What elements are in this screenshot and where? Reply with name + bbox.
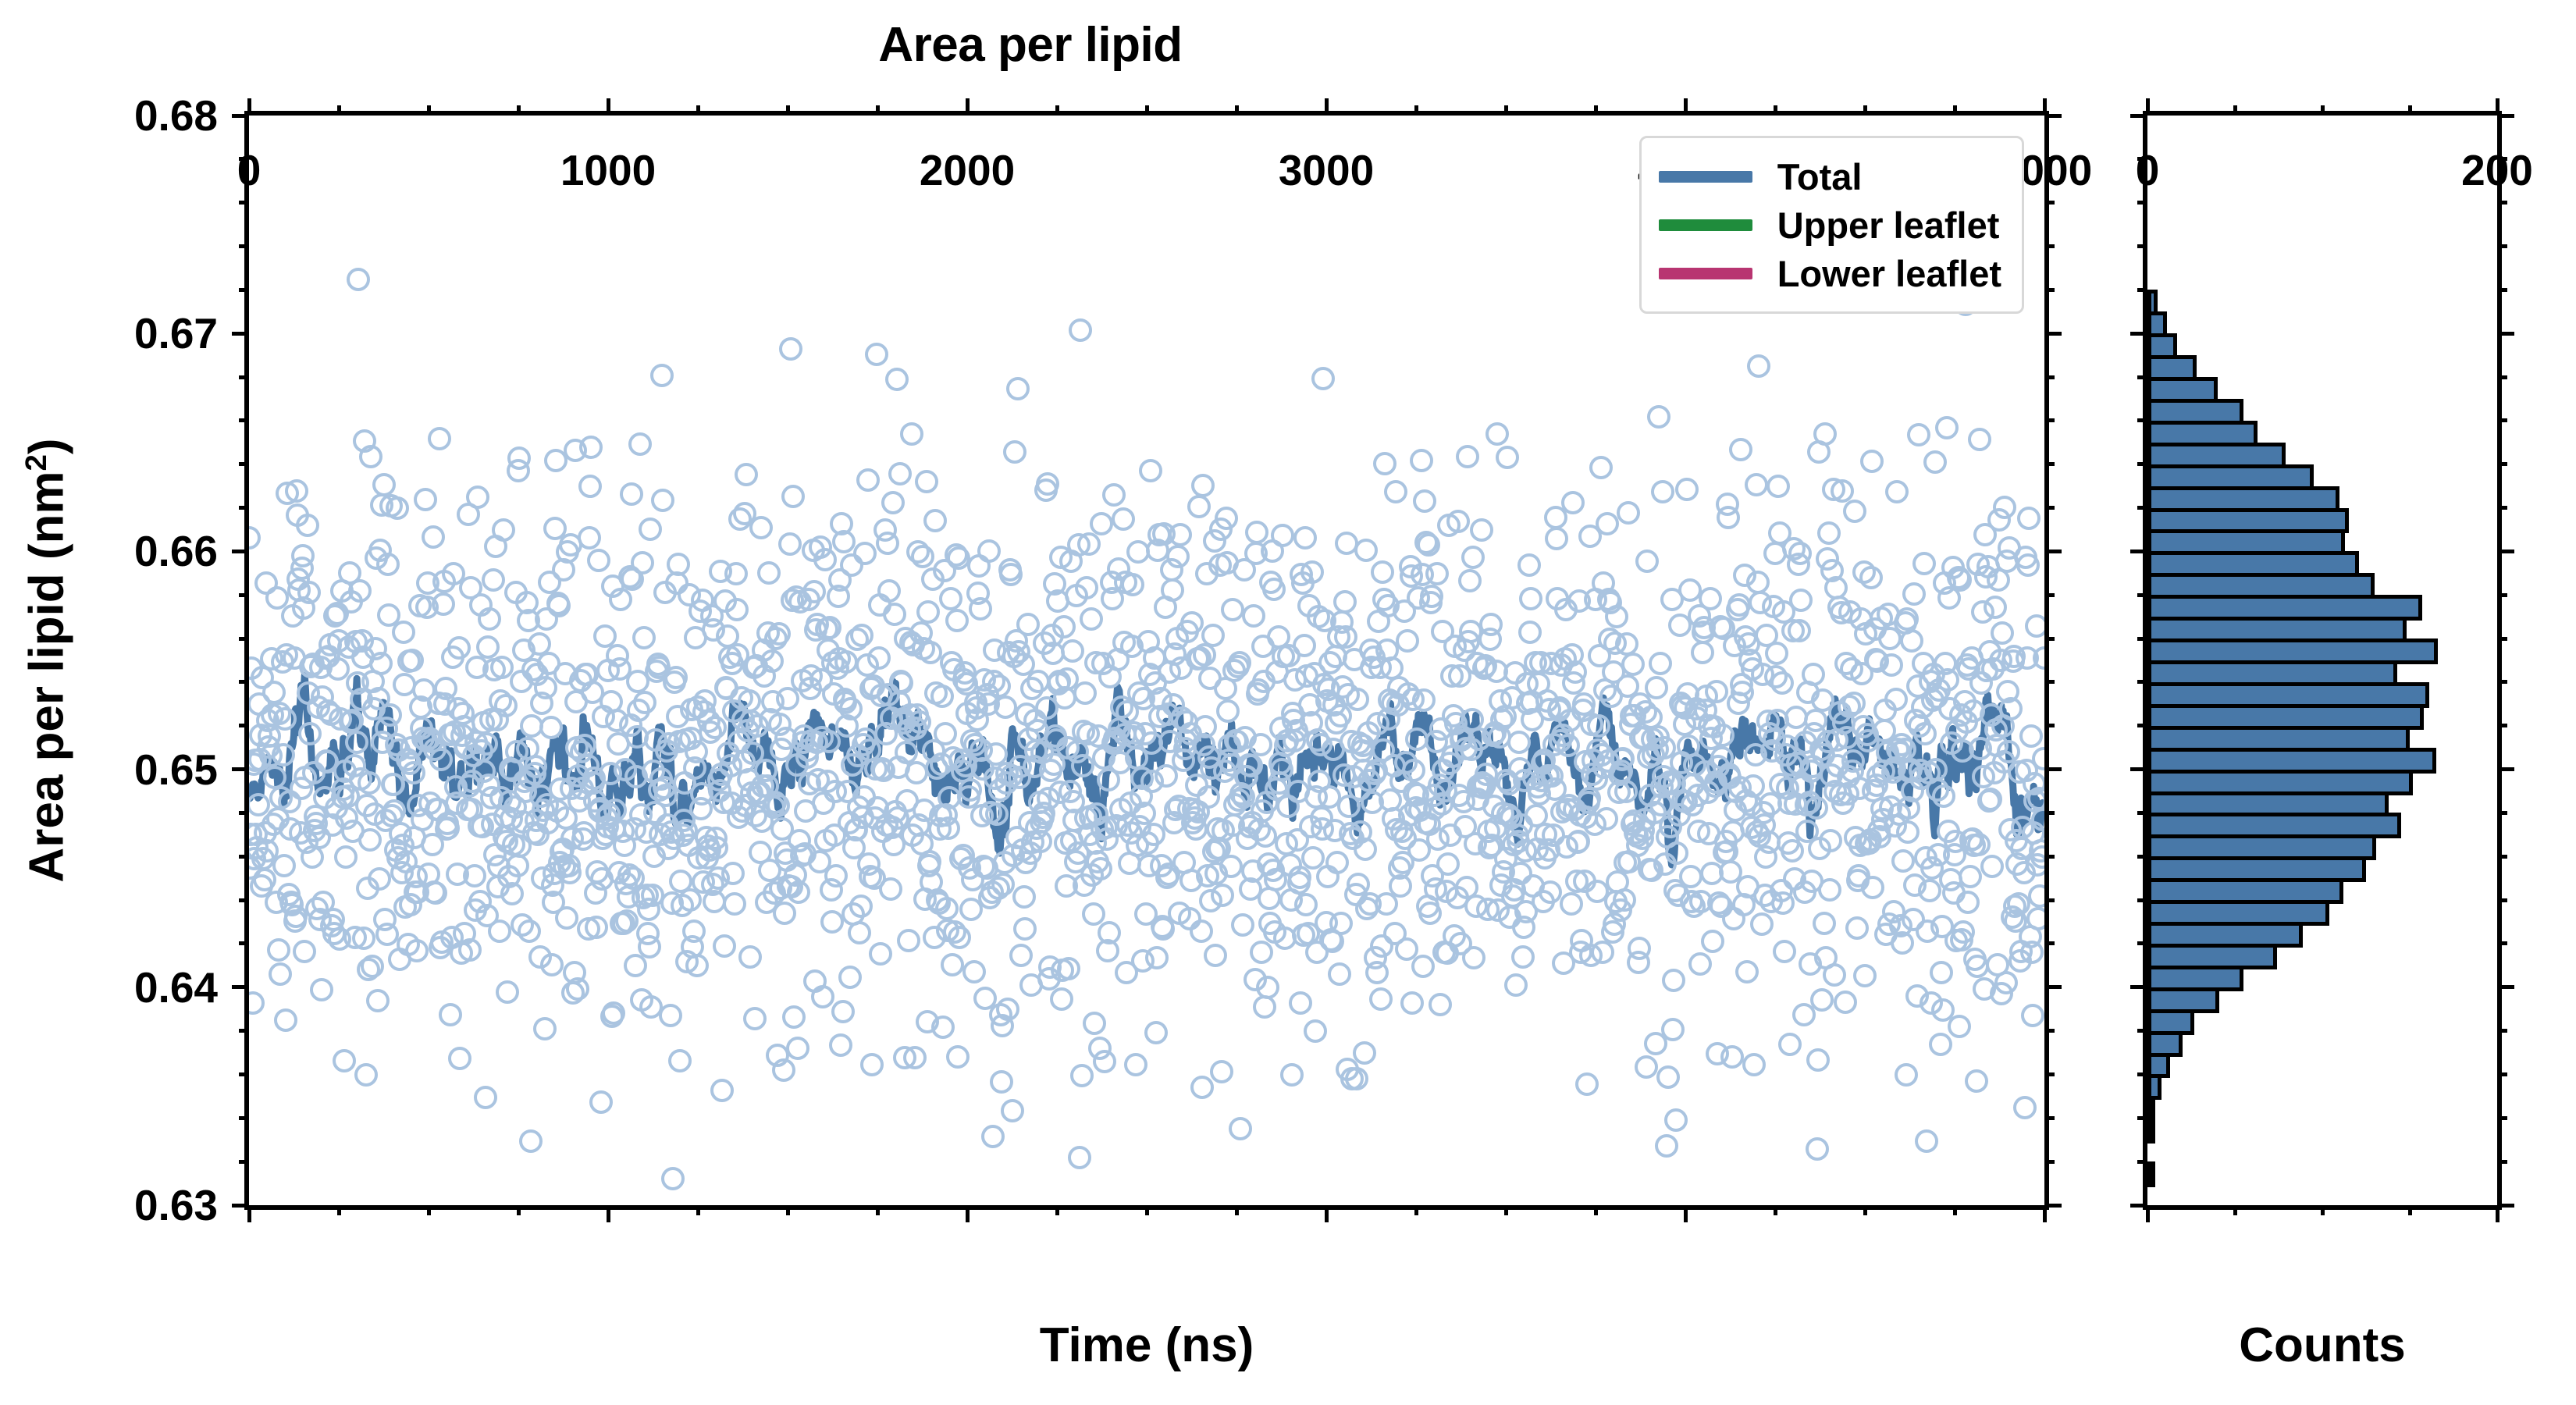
scatter-point [386, 496, 409, 520]
x-major-tick [1325, 98, 1329, 116]
scatter-point [1999, 697, 2023, 720]
scatter-point [818, 616, 841, 639]
scatter-point [1098, 921, 1121, 944]
scatter-point [969, 597, 992, 621]
x-minor-tick [1504, 1205, 1508, 1215]
scatter-point [293, 940, 316, 963]
histogram-y-major-tick [2130, 767, 2147, 771]
scatter-point [1781, 839, 1804, 863]
scatter-point [994, 695, 1017, 719]
y-major-tick [232, 332, 249, 336]
scatter-point [1729, 438, 1752, 461]
scatter-point [1373, 452, 1397, 475]
histogram-y-minor-tick [2137, 506, 2147, 510]
scatter-point [1325, 851, 1349, 874]
histogram-y-major-tick [2130, 332, 2147, 336]
scatter-point [1507, 731, 1531, 754]
scatter-point [1991, 621, 2014, 645]
scatter-point [533, 1017, 557, 1040]
scatter-point [1891, 849, 1915, 873]
histogram-y-minor-tick [2137, 898, 2147, 902]
scatter-point [1073, 681, 1097, 705]
scatter-point [1201, 624, 1225, 647]
scatter-point [867, 646, 891, 670]
scatter-point [1935, 416, 1959, 439]
scatter-point [424, 881, 447, 905]
scatter-point [466, 486, 489, 509]
scatter-point [749, 516, 773, 539]
scatter-point [428, 427, 451, 450]
scatter-point [1819, 829, 1842, 852]
x-minor-tick [427, 105, 431, 116]
scatter-point [1334, 625, 1357, 649]
scatter-point [1613, 888, 1636, 912]
scatter-point [773, 902, 796, 925]
scatter-point [1561, 491, 1585, 514]
y-minor-tick-right [2044, 898, 2055, 902]
histogram-y-minor-tick [2137, 724, 2147, 727]
histogram-bars-layer [2147, 116, 2497, 1205]
scatter-point [1959, 865, 1982, 888]
scatter-point [832, 530, 856, 553]
scatter-point [1458, 569, 1482, 592]
scatter-point [1691, 641, 1714, 664]
scatter-point [1420, 585, 1443, 608]
scatter-point [1003, 440, 1026, 464]
scatter-point [1965, 1069, 1988, 1093]
scatter-point [1009, 944, 1033, 967]
y-minor-tick [239, 941, 249, 945]
scatter-point [633, 691, 656, 714]
y-minor-tick-right [2044, 1029, 2055, 1033]
y-minor-tick-right [2044, 855, 2055, 859]
scatter-point [1517, 553, 1541, 577]
scatter-point [1930, 961, 1953, 984]
scatter-point [1788, 542, 1812, 565]
scatter-point [1082, 902, 1105, 926]
scatter-point [358, 771, 381, 795]
scatter-point [1485, 422, 1509, 446]
histogram-y-minor-tick [2137, 680, 2147, 684]
y-major-tick-right [2044, 550, 2062, 553]
histogram-y-minor-tick [2497, 680, 2507, 684]
scatter-point [860, 1053, 884, 1076]
scatter-point [1328, 962, 1351, 986]
scatter-point [496, 980, 519, 1004]
legend-label: Lower leaflet [1777, 252, 2001, 295]
scatter-point [1187, 495, 1211, 518]
scatter-point [602, 1001, 625, 1025]
scatter-point [650, 364, 674, 387]
scatter-point [1859, 566, 1883, 589]
y-minor-tick-right [2044, 201, 2055, 205]
scatter-point [1545, 527, 1568, 550]
scatter-point [1417, 533, 1440, 557]
scatter-point [1789, 589, 1813, 612]
scatter-point [405, 939, 429, 962]
scatter-point [1090, 512, 1113, 535]
scatter-point [1614, 780, 1638, 803]
histogram-y-minor-tick [2497, 1029, 2507, 1033]
scatter-point [723, 892, 746, 916]
scatter-point [1124, 1053, 1147, 1076]
scatter-point [1249, 733, 1272, 756]
scatter-point [1805, 796, 1828, 820]
scatter-point [767, 794, 790, 817]
y-axis-title-suffix: ) [20, 438, 74, 454]
y-minor-tick [239, 1160, 249, 1164]
scatter-point [1993, 496, 2016, 519]
scatter-point [340, 709, 364, 732]
scatter-point [492, 518, 515, 542]
scatter-point [1271, 524, 1294, 547]
y-major-tick-right [2044, 985, 2062, 989]
scatter-point [1418, 902, 1442, 925]
scatter-point [1735, 960, 1759, 983]
histogram-y-minor-tick [2497, 593, 2507, 597]
scatter-point [609, 588, 632, 611]
scatter-point [291, 544, 315, 567]
scatter-point [296, 514, 319, 537]
histogram-y-minor-tick [2137, 1072, 2147, 1076]
scatter-point [1770, 671, 1794, 695]
scatter-point [253, 868, 276, 891]
x-minor-tick [337, 1205, 341, 1215]
histogram-x-minor-tick [2408, 105, 2412, 116]
scatter-point [1145, 946, 1169, 969]
scatter-point [1294, 893, 1318, 916]
histogram-x-tick-label: 0 [2136, 145, 2160, 195]
scatter-point [1591, 941, 1614, 964]
x-tick-label: 3000 [1279, 145, 1374, 195]
scatter-point [1036, 472, 1059, 496]
histogram-x-minor-tick [2321, 105, 2325, 116]
y-major-tick-right [2044, 114, 2062, 118]
scatter-point [540, 953, 564, 976]
scatter-point [786, 1037, 809, 1060]
scatter-point [1662, 969, 1685, 992]
scatter-point [1293, 634, 1316, 657]
scatter-point [1190, 919, 1213, 943]
scatter-point [1353, 1041, 1376, 1065]
scatter-point [1806, 1137, 1829, 1161]
x-minor-tick [1055, 105, 1059, 116]
x-major-tick [1325, 1205, 1329, 1222]
scatter-point [347, 268, 370, 291]
scatter-point [869, 942, 892, 966]
scatter-point [1915, 1129, 1938, 1153]
scatter-point [534, 676, 557, 699]
y-minor-tick [239, 898, 249, 902]
scatter-point [760, 649, 784, 673]
scatter-point [1412, 688, 1436, 712]
scatter-point [710, 1079, 734, 1102]
y-minor-tick-right [2044, 637, 2055, 641]
scatter-point [946, 1045, 970, 1069]
scatter-point [824, 864, 848, 887]
scatter-point [667, 553, 690, 576]
scatter-point [589, 1090, 613, 1114]
y-minor-tick-right [2044, 506, 2055, 510]
scatter-point [999, 563, 1023, 586]
scatter-point [494, 694, 518, 717]
scatter-point [2021, 1004, 2044, 1027]
scatter-point [2026, 907, 2044, 930]
histogram-y-minor-tick [2137, 244, 2147, 248]
scatter-point [1560, 892, 1583, 916]
scatter-point [1304, 1019, 1327, 1043]
scatter-point [923, 509, 947, 532]
scatter-point [877, 579, 901, 603]
scatter-point [1902, 582, 1926, 606]
scatter-point [1354, 838, 1377, 861]
scatter-point [1371, 560, 1394, 584]
scatter-point [1932, 784, 1955, 808]
figure-canvas: Area per lipid 0.630.640.650.660.670.68 … [0, 0, 2576, 1405]
scatter-point [1083, 1012, 1106, 1035]
x-minor-tick [1414, 1205, 1418, 1215]
scatter-point [948, 926, 971, 949]
scatter-point [1191, 474, 1215, 497]
scatter-point [1436, 852, 1460, 876]
histogram-y-minor-tick [2137, 593, 2147, 597]
scatter-point [1841, 749, 1865, 773]
scatter-point [1461, 546, 1485, 569]
y-minor-tick [239, 506, 249, 510]
scatter-point [375, 923, 399, 946]
y-minor-tick [239, 855, 249, 859]
x-major-tick [2043, 98, 2047, 116]
scatter-point [1400, 991, 1424, 1015]
scatter-point [2016, 553, 2040, 577]
scatter-point [1968, 428, 1991, 451]
x-major-tick [1684, 1205, 1688, 1222]
scatter-point [1012, 885, 1036, 909]
scatter-point [779, 337, 802, 361]
scatter-point [1410, 449, 1433, 472]
scatter-point [1166, 545, 1190, 568]
scatter-point [802, 580, 826, 603]
scatter-point [1211, 884, 1234, 907]
scatter-point [1936, 668, 1959, 692]
scatter-point [615, 909, 639, 933]
chart-title: Area per lipid [0, 17, 2061, 73]
scatter-point [1979, 788, 2002, 811]
scatter-point [831, 1000, 855, 1023]
scatter-point [518, 919, 541, 943]
scatter-point [326, 657, 350, 681]
scatter-point [1896, 820, 1920, 844]
scatter-point [558, 861, 582, 884]
histogram-y-minor-tick [2497, 201, 2507, 205]
scatter-point [372, 473, 396, 496]
scatter-point [463, 864, 486, 887]
scatter-point [1161, 578, 1184, 602]
scatter-point [757, 561, 781, 585]
scatter-point [382, 799, 406, 823]
scatter-point [787, 880, 810, 904]
scatter-point [939, 587, 962, 610]
scatter-point [685, 954, 709, 977]
scatter-point [578, 526, 601, 550]
scatter-point [1895, 607, 1919, 631]
scatter-point [865, 343, 888, 366]
scatter-point [1216, 699, 1240, 723]
legend-entry-lower-leaflet[interactable]: Lower leaflet [1659, 249, 2001, 297]
x-minor-tick [517, 1205, 521, 1215]
scatter-point [1823, 963, 1846, 987]
scatter-point [1219, 855, 1243, 878]
histogram-x-tick-label: 200 [2461, 145, 2533, 195]
scatter-point [705, 836, 728, 859]
scatter-point [488, 919, 511, 943]
y-major-tick [232, 767, 249, 771]
scatter-point [585, 916, 608, 939]
scatter-point [1773, 940, 1796, 963]
scatter-point [482, 568, 505, 592]
histogram-y-minor-tick [2497, 506, 2507, 510]
scatter-point [1647, 405, 1670, 429]
scatter-point [263, 766, 286, 789]
y-tick-label: 0.68 [134, 91, 218, 140]
scatter-point [1139, 459, 1162, 482]
scatter-point [358, 828, 382, 852]
histogram-x-minor-tick [2233, 1205, 2237, 1215]
legend-entry-total[interactable]: Total [1659, 152, 2001, 201]
scatter-point [735, 463, 758, 486]
scatter-point [1169, 523, 1192, 546]
y-minor-tick-right [2044, 418, 2055, 422]
scatter-point [476, 635, 500, 659]
scatter-point [1016, 613, 1040, 636]
scatter-point [1665, 841, 1688, 865]
scatter-point [1861, 876, 1884, 899]
y-minor-tick [239, 418, 249, 422]
scatter-point [376, 553, 400, 576]
scatter-point [1705, 680, 1728, 703]
scatter-point [945, 609, 969, 632]
scatter-point [1013, 917, 1037, 941]
scatter-point [632, 626, 656, 649]
scatter-point [883, 603, 906, 626]
scatter-point [432, 592, 455, 616]
scatter-point [1913, 722, 1937, 745]
scatter-point [368, 867, 391, 891]
scatter-point [1256, 976, 1279, 999]
x-minor-tick [786, 1205, 790, 1215]
scatter-point [1215, 507, 1238, 530]
x-minor-tick [1953, 1205, 1957, 1215]
x-minor-tick [1594, 105, 1598, 116]
scatter-point [1860, 450, 1884, 473]
scatter-point [333, 1049, 356, 1072]
scatter-point [1621, 653, 1645, 676]
y-minor-tick [239, 201, 249, 205]
legend-color-swatch [1659, 171, 1752, 183]
scatter-point [1425, 562, 1449, 585]
scatter-point [1564, 660, 1587, 684]
legend-box[interactable]: TotalUpper leafletLower leaflet [1639, 136, 2024, 314]
y-minor-tick-right [2044, 1072, 2055, 1076]
scatter-point [1884, 688, 1908, 711]
x-minor-tick [1774, 105, 1777, 116]
scatter-point [1077, 532, 1101, 556]
scatter-point [1831, 479, 1854, 503]
scatter-point [813, 548, 837, 571]
scatter-point [474, 1086, 497, 1109]
scatter-point [1813, 912, 1836, 935]
histogram-plot-area: 0200 [2143, 111, 2502, 1210]
scatter-point [820, 910, 844, 934]
y-minor-tick-right [2044, 941, 2055, 945]
scatter-point [1270, 758, 1293, 781]
histogram-y-major-tick [2497, 767, 2514, 771]
y-minor-tick [239, 1072, 249, 1076]
scatter-point [587, 549, 610, 572]
scatter-point [781, 485, 805, 508]
y-minor-tick-right [2044, 811, 2055, 815]
scatter-point [1649, 652, 1672, 675]
scatter-point [310, 978, 333, 1001]
scatter-point [273, 707, 297, 731]
legend-entry-upper-leaflet[interactable]: Upper leaflet [1659, 201, 2001, 249]
scatter-point [1511, 945, 1535, 969]
y-minor-tick-right [2044, 244, 2055, 248]
scatter-point [916, 600, 940, 624]
scatter-point [1575, 1072, 1599, 1096]
scatter-point [267, 938, 290, 962]
scatter-point [478, 607, 501, 631]
scatter-point [1300, 560, 1324, 584]
scatter-point [500, 882, 524, 905]
scatter-point [1102, 483, 1126, 507]
scatter-point [1688, 952, 1712, 976]
scatter-point [1089, 857, 1112, 880]
histogram-y-minor-tick [2137, 288, 2147, 292]
legend-color-swatch [1659, 268, 1752, 279]
scatter-point [334, 845, 358, 869]
histogram-x-minor-tick [2233, 105, 2237, 116]
scatter-point [703, 890, 726, 913]
scatter-point [908, 710, 931, 734]
x-major-tick [607, 98, 610, 116]
scatter-point [1813, 422, 1837, 446]
legend-label: Upper leaflet [1777, 204, 2000, 247]
scatter-point [2017, 507, 2041, 530]
scatter-point [2007, 892, 2030, 916]
y-tick-label: 0.63 [134, 1180, 218, 1230]
x-tick-label: 1000 [560, 145, 656, 195]
y-tick-label: 0.64 [134, 962, 218, 1012]
scatter-point [624, 954, 647, 977]
scatter-point [400, 649, 424, 672]
scatter-point [703, 716, 727, 739]
scatter-point [888, 462, 912, 486]
scatter-point [392, 621, 415, 644]
scatter-point [962, 960, 986, 983]
histogram-x-minor-tick [2408, 1205, 2412, 1215]
scatter-point [1771, 891, 1795, 915]
y-minor-tick-right [2044, 462, 2055, 466]
scatter-point [853, 542, 877, 565]
scatter-point [1245, 521, 1268, 544]
scatter-point [782, 1005, 806, 1029]
scatter-point [507, 446, 531, 470]
scatter-point [1413, 489, 1436, 513]
scatter-point [1956, 891, 1980, 914]
scatter-point [359, 445, 382, 468]
scatter-point [1346, 688, 1369, 711]
